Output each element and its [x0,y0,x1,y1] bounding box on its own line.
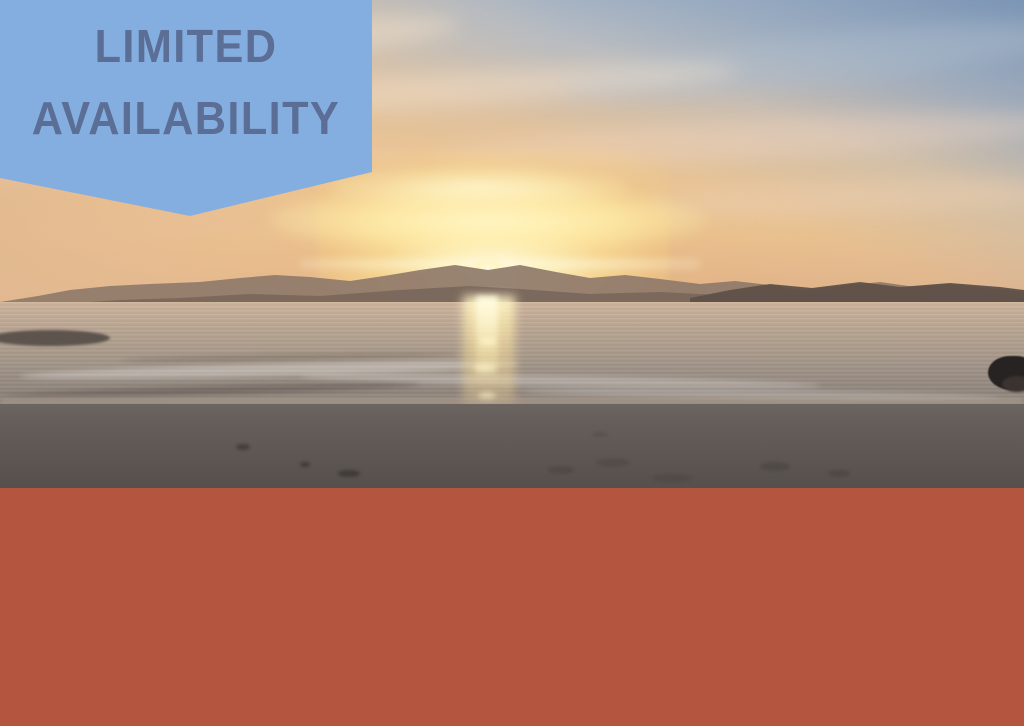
badge-line-2: AVAILABILITY [11,82,361,154]
sand-pebble-2 [300,462,310,467]
limited-availability-text: LIMITED AVAILABILITY [11,10,361,154]
sand-pebble-6 [652,474,692,482]
badge-line-1: LIMITED [11,10,361,82]
sand-pebble-3 [338,470,360,477]
foreground-rock-shadow [1002,376,1024,392]
reflection-glint-2 [474,364,496,372]
sand-pebble-8 [828,470,850,477]
reflection-glint-1 [480,338,496,345]
lenticular-flare-cloud-inner [330,168,630,208]
event-footer-band: Time & Space 30th MAY -5th JUNE [0,488,1024,726]
poster-root: LIMITED AVAILABILITY Time & Space 30th M… [0,0,1024,726]
sand-pebble-1 [236,444,250,450]
sand-pebble-4 [548,466,574,474]
beach-sand [0,404,1024,488]
sand-pebble-9 [592,432,608,437]
sand-pebble-7 [760,462,790,471]
sand-pebble-5 [596,458,630,467]
sunset-beach-photo: LIMITED AVAILABILITY [0,0,1024,488]
limited-availability-banner: LIMITED AVAILABILITY [0,0,372,216]
